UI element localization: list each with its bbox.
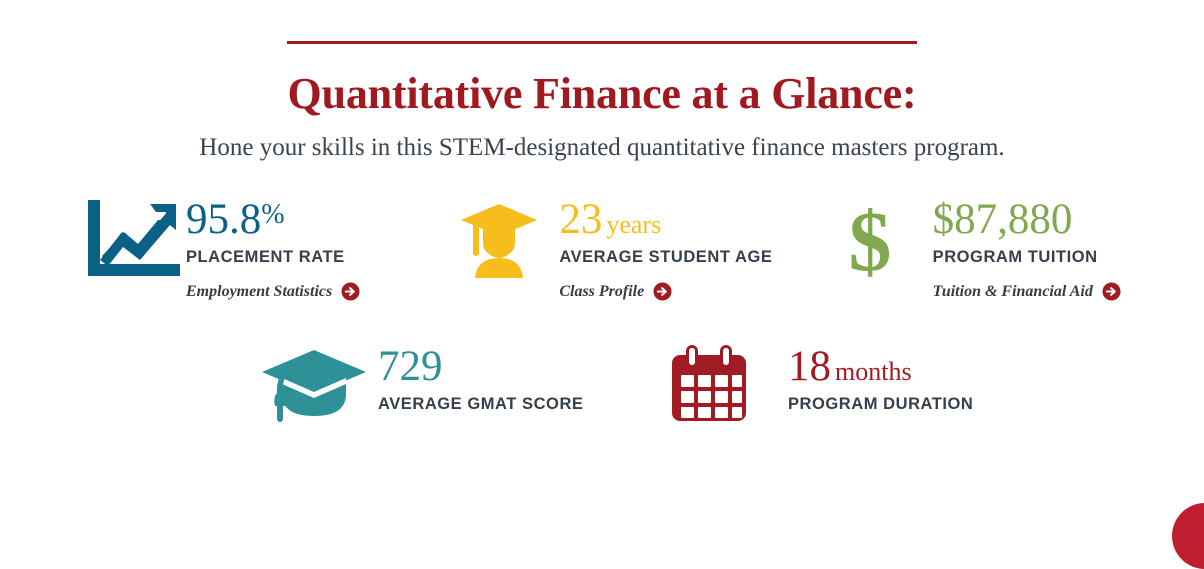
stat-value-number: 23: [559, 196, 602, 243]
stat-value-unit: years: [606, 210, 661, 239]
header-divider: [287, 41, 917, 44]
graduate-person-icon: [457, 196, 559, 282]
stats-row-secondary: 729 AVERAGE GMAT SCORE: [0, 343, 1204, 423]
chat-help-bubble-icon[interactable]: [1172, 503, 1204, 569]
stat-value: 18months: [788, 345, 973, 388]
graduation-cap-icon: [258, 343, 378, 423]
dollar-sign-icon: $: [831, 196, 933, 282]
calendar-icon: [668, 343, 788, 423]
stats-row-primary: 95.8% PLACEMENT RATE Employment Statisti…: [0, 196, 1204, 301]
stat-label: PROGRAM DURATION: [788, 395, 973, 414]
stats-section: 95.8% PLACEMENT RATE Employment Statisti…: [0, 196, 1204, 423]
stat-value-number: 729: [378, 343, 443, 390]
stat-label: AVERAGE GMAT SCORE: [378, 395, 583, 414]
stat-value: 23years: [559, 198, 772, 241]
arrow-right-circle-icon: [653, 282, 672, 301]
stat-value-unit: months: [835, 357, 912, 386]
page-subtitle: Hone your skills in this STEM-designated…: [0, 134, 1204, 162]
stat-value-number: $87,880: [933, 196, 1073, 243]
page-header: Quantitative Finance at a Glance: Hone y…: [0, 41, 1204, 162]
stat-value-number: 18: [788, 343, 831, 390]
stat-link-label: Tuition & Financial Aid: [933, 283, 1093, 301]
stat-body: $87,880 PROGRAM TUITION Tuition & Financ…: [933, 196, 1121, 301]
stat-placement-rate: 95.8% PLACEMENT RATE Employment Statisti…: [84, 196, 457, 301]
stat-value: 95.8%: [186, 198, 360, 241]
stat-body: 18months PROGRAM DURATION: [788, 343, 973, 414]
stat-link-label: Class Profile: [559, 283, 644, 301]
stat-value-number: 95.8: [186, 196, 261, 243]
stat-program-duration: 18months PROGRAM DURATION: [668, 343, 1078, 423]
stat-body: 729 AVERAGE GMAT SCORE: [378, 343, 583, 414]
stat-label: PROGRAM TUITION: [933, 248, 1121, 267]
stat-program-tuition: $ $87,880 PROGRAM TUITION Tuition & Fina…: [831, 196, 1204, 301]
svg-text:$: $: [848, 198, 891, 282]
arrow-right-circle-icon: [1102, 282, 1121, 301]
stat-link-tuition-financial-aid[interactable]: Tuition & Financial Aid: [933, 282, 1121, 301]
arrow-right-circle-icon: [341, 282, 360, 301]
stat-body: 23years AVERAGE STUDENT AGE Class Profil…: [559, 196, 772, 301]
stat-link-label: Employment Statistics: [186, 283, 332, 301]
stat-average-gmat-score: 729 AVERAGE GMAT SCORE: [258, 343, 668, 423]
stat-label: PLACEMENT RATE: [186, 248, 360, 267]
stat-link-employment-statistics[interactable]: Employment Statistics: [186, 282, 360, 301]
page-title: Quantitative Finance at a Glance:: [0, 70, 1204, 118]
stat-value: $87,880: [933, 198, 1121, 241]
stat-value: 729: [378, 345, 583, 388]
stat-average-student-age: 23years AVERAGE STUDENT AGE Class Profil…: [457, 196, 830, 301]
line-chart-growth-icon: [84, 196, 186, 282]
stat-link-class-profile[interactable]: Class Profile: [559, 282, 772, 301]
stat-label: AVERAGE STUDENT AGE: [559, 248, 772, 267]
stat-value-unit: %: [261, 199, 284, 230]
stat-body: 95.8% PLACEMENT RATE Employment Statisti…: [186, 196, 360, 301]
